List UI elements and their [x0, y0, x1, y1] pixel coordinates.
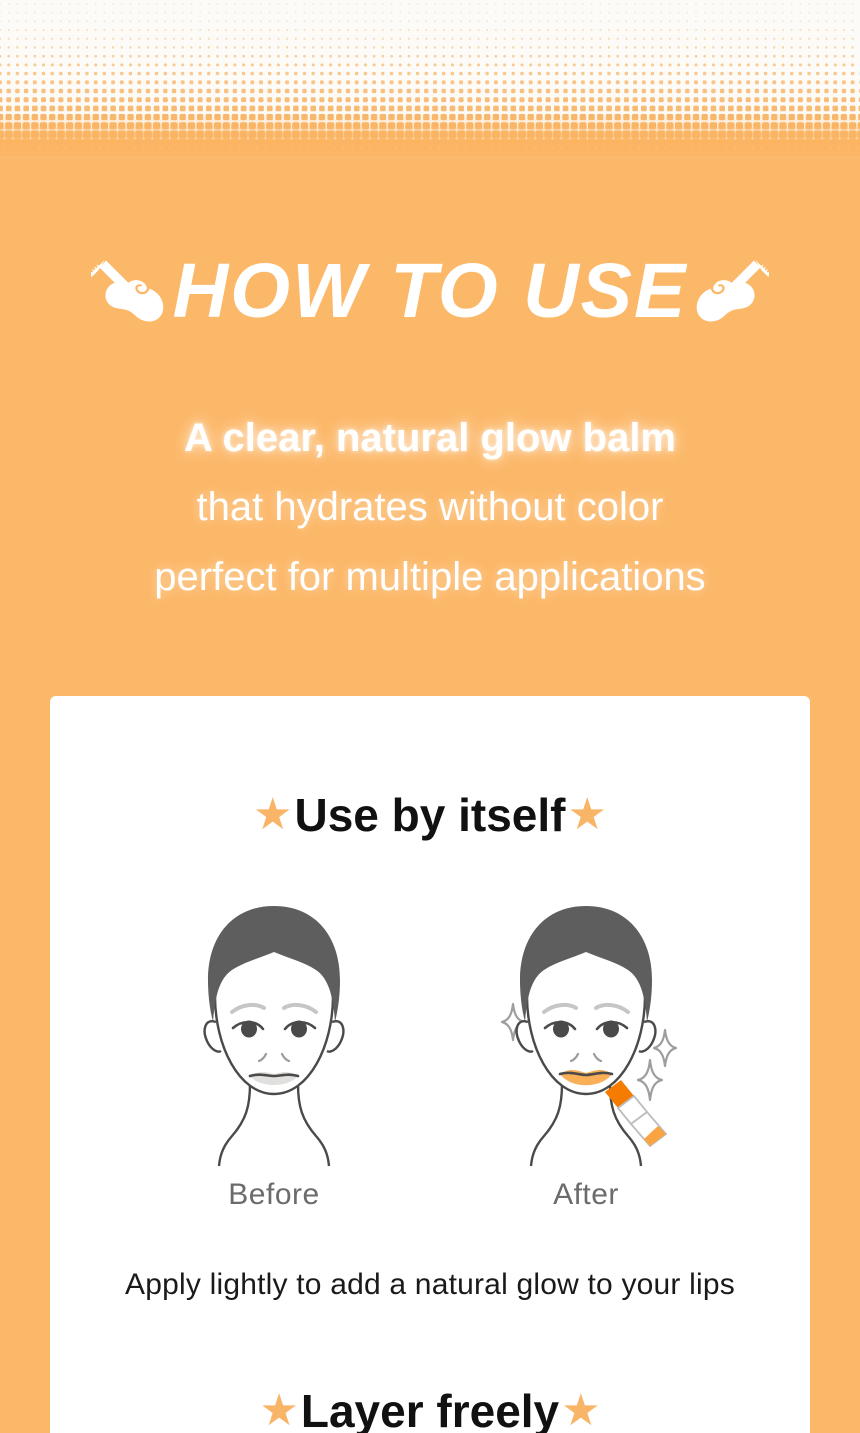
- how-to-use-page: HOW TO USE A clear, natural glow balm th…: [0, 0, 860, 1433]
- halftone-fade-overlay: [0, 114, 860, 160]
- section-title-use-by-itself: ★ Use by itself ★: [50, 792, 810, 838]
- before-label: Before: [228, 1178, 319, 1212]
- after-face-illustration: [488, 896, 684, 1172]
- guitar-icon: [91, 252, 169, 330]
- hero-subcopy: A clear, natural glow balm that hydrates…: [0, 404, 860, 612]
- subcopy-line-2: that hydrates without color: [0, 472, 860, 542]
- after-label: After: [553, 1178, 619, 1212]
- star-icon: ★: [259, 1389, 298, 1433]
- halftone-gradient-banner: [0, 0, 860, 160]
- subcopy-line-3: perfect for multiple applications: [0, 542, 860, 612]
- after-column: After: [488, 896, 684, 1212]
- section-title-text: Layer freely: [301, 1388, 559, 1433]
- star-icon: ★: [561, 1389, 600, 1433]
- page-title: HOW TO USE: [173, 253, 688, 330]
- usage-card: ★ Use by itself ★: [50, 696, 810, 1433]
- star-icon: ★: [568, 793, 607, 837]
- usage-caption: Apply lightly to add a natural glow to y…: [50, 1268, 810, 1302]
- subcopy-line-1: A clear, natural glow balm: [0, 404, 860, 472]
- section-title-layer-freely: ★ Layer freely ★: [50, 1388, 810, 1433]
- before-after-comparison: Before: [50, 896, 810, 1212]
- before-column: Before: [176, 896, 372, 1212]
- hero-heading: HOW TO USE: [0, 236, 860, 346]
- before-face-illustration: [176, 896, 372, 1172]
- section-title-text: Use by itself: [295, 792, 566, 838]
- star-icon: ★: [253, 793, 292, 837]
- guitar-icon: [691, 252, 769, 330]
